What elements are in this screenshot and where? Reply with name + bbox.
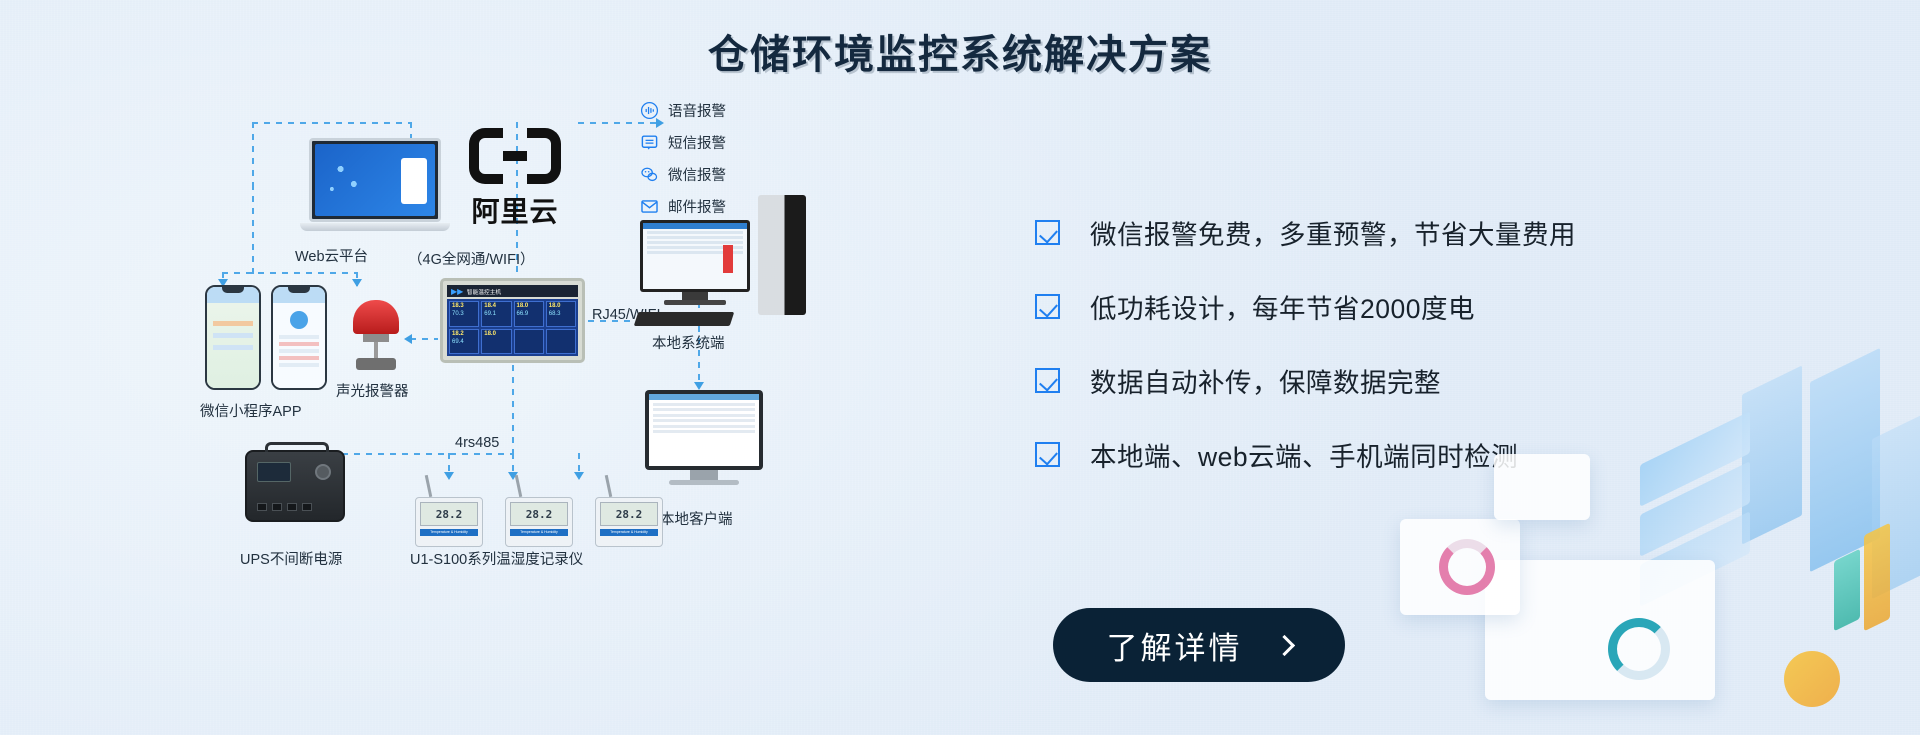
label-local-system: 本地系统端 — [652, 332, 725, 353]
email-alarm-icon — [640, 197, 659, 216]
connector-line — [222, 272, 357, 274]
controller-readings-grid: 18.370.3 18.469.1 18.066.9 18.068.3 18.2… — [447, 299, 578, 356]
reading-cell — [514, 329, 544, 355]
sensor-group-illustration: 28.2Temperature & Humidity 28.2Temperatu… — [415, 475, 663, 547]
arrow-icon — [352, 279, 362, 287]
sensor-footer: Temperature & Humidity — [510, 529, 568, 536]
controller-title: 智能温控主机 — [467, 287, 501, 296]
label-wechat-app: 微信小程序APP — [200, 400, 302, 421]
siren-illustration — [350, 300, 402, 370]
feature-text: 微信报警免费，多重预警，节省大量费用 — [1090, 213, 1576, 252]
reading-cell: 18.269.4 — [449, 329, 479, 355]
connector-line — [330, 453, 512, 455]
chevron-right-icon: ▶▶ — [451, 287, 463, 296]
feature-text: 本地端、web云端、手机端同时检测 — [1090, 435, 1518, 474]
sensor-device: 28.2Temperature & Humidity — [595, 475, 663, 547]
feature-item: 微信报警免费，多重预警，节省大量费用 — [1035, 195, 1735, 269]
sensor-footer: Temperature & Humidity — [600, 529, 658, 536]
checkbox-checked-icon — [1035, 368, 1060, 393]
checkbox-checked-icon — [1035, 442, 1060, 467]
temperature-controller-host: ▶▶ 智能温控主机 18.370.3 18.469.1 18.066.9 18.… — [440, 278, 585, 363]
connector-line — [410, 338, 438, 340]
label-network: （4G全网通/WIFI） — [408, 248, 534, 269]
learn-more-label: 了解详情 — [1107, 623, 1243, 668]
wechat-alarm-icon — [640, 165, 659, 184]
arrow-icon — [694, 382, 704, 390]
feature-text: 低功耗设计，每年节省2000度电 — [1090, 287, 1475, 326]
feature-text: 数据自动补传，保障数据完整 — [1090, 361, 1441, 400]
phone-map — [205, 285, 261, 390]
label-local-client: 本地客户端 — [660, 508, 733, 529]
page-title: 仓储环境监控系统解决方案 — [0, 22, 1920, 80]
alarm-item-email: 邮件报警 — [640, 194, 726, 218]
label-rs485: 4rs485 — [455, 435, 499, 451]
voice-alarm-icon — [640, 101, 659, 120]
alarm-channel-list: 语音报警 短信报警 微信报警 邮件报警 — [640, 98, 726, 226]
sensor-device: 28.2Temperature & Humidity — [505, 475, 573, 547]
sensor-device: 28.2Temperature & Humidity — [415, 475, 483, 547]
checkbox-checked-icon — [1035, 294, 1060, 319]
alicloud-logo: 阿里云 — [455, 128, 575, 230]
laptop-illustration — [300, 138, 450, 231]
connector-line — [512, 365, 514, 453]
phone-dashboard — [271, 285, 327, 390]
label-sensors: U1-S100系列温湿度记录仪 — [410, 548, 583, 569]
alarm-item-wechat: 微信报警 — [640, 162, 726, 186]
desktop-computer-illustration — [640, 220, 750, 305]
alarm-item-label: 邮件报警 — [668, 196, 726, 217]
checkbox-checked-icon — [1035, 220, 1060, 245]
reading-cell: 18.0 — [481, 329, 511, 355]
sms-alarm-icon — [640, 133, 659, 152]
feature-item: 低功耗设计，每年节省2000度电 — [1035, 269, 1735, 343]
sensor-reading: 28.2 — [616, 508, 643, 521]
system-architecture-diagram: Web云平台 阿里云 （4G全网通/WIFI） 语音报警 短信报警 微信报警 — [0, 80, 1010, 720]
feature-item: 数据自动补传，保障数据完整 — [1035, 343, 1735, 417]
alarm-item-sms: 短信报警 — [640, 130, 726, 154]
alicloud-mark-icon — [469, 128, 561, 184]
connector-line — [252, 122, 254, 184]
learn-more-button[interactable]: 了解详情 — [1053, 608, 1345, 682]
connector-line — [252, 184, 254, 274]
sensor-reading: 28.2 — [436, 508, 463, 521]
ups-illustration — [245, 450, 345, 522]
sensor-footer: Temperature & Humidity — [420, 529, 478, 536]
reading-cell — [546, 329, 576, 355]
label-web-cloud: Web云平台 — [295, 245, 368, 266]
alarm-item-label: 语音报警 — [668, 100, 726, 121]
chevron-right-icon — [1273, 634, 1294, 655]
mobile-phones-illustration — [205, 285, 327, 390]
reading-cell: 18.066.9 — [514, 301, 544, 327]
alarm-item-label: 短信报警 — [668, 132, 726, 153]
alicloud-brand-text: 阿里云 — [455, 190, 575, 230]
reading-cell: 18.068.3 — [546, 301, 576, 327]
arrow-icon — [404, 334, 412, 344]
feature-list: 微信报警免费，多重预警，节省大量费用 低功耗设计，每年节省2000度电 数据自动… — [1035, 195, 1735, 491]
connector-line — [252, 122, 412, 124]
sensor-reading: 28.2 — [526, 508, 553, 521]
alarm-item-voice: 语音报警 — [640, 98, 726, 122]
label-ups: UPS不间断电源 — [240, 548, 342, 569]
reading-cell: 18.469.1 — [481, 301, 511, 327]
reading-cell: 18.370.3 — [449, 301, 479, 327]
alarm-item-label: 微信报警 — [668, 164, 726, 185]
client-monitor-illustration — [645, 390, 763, 485]
label-siren: 声光报警器 — [336, 380, 409, 401]
feature-item: 本地端、web云端、手机端同时检测 — [1035, 417, 1735, 491]
